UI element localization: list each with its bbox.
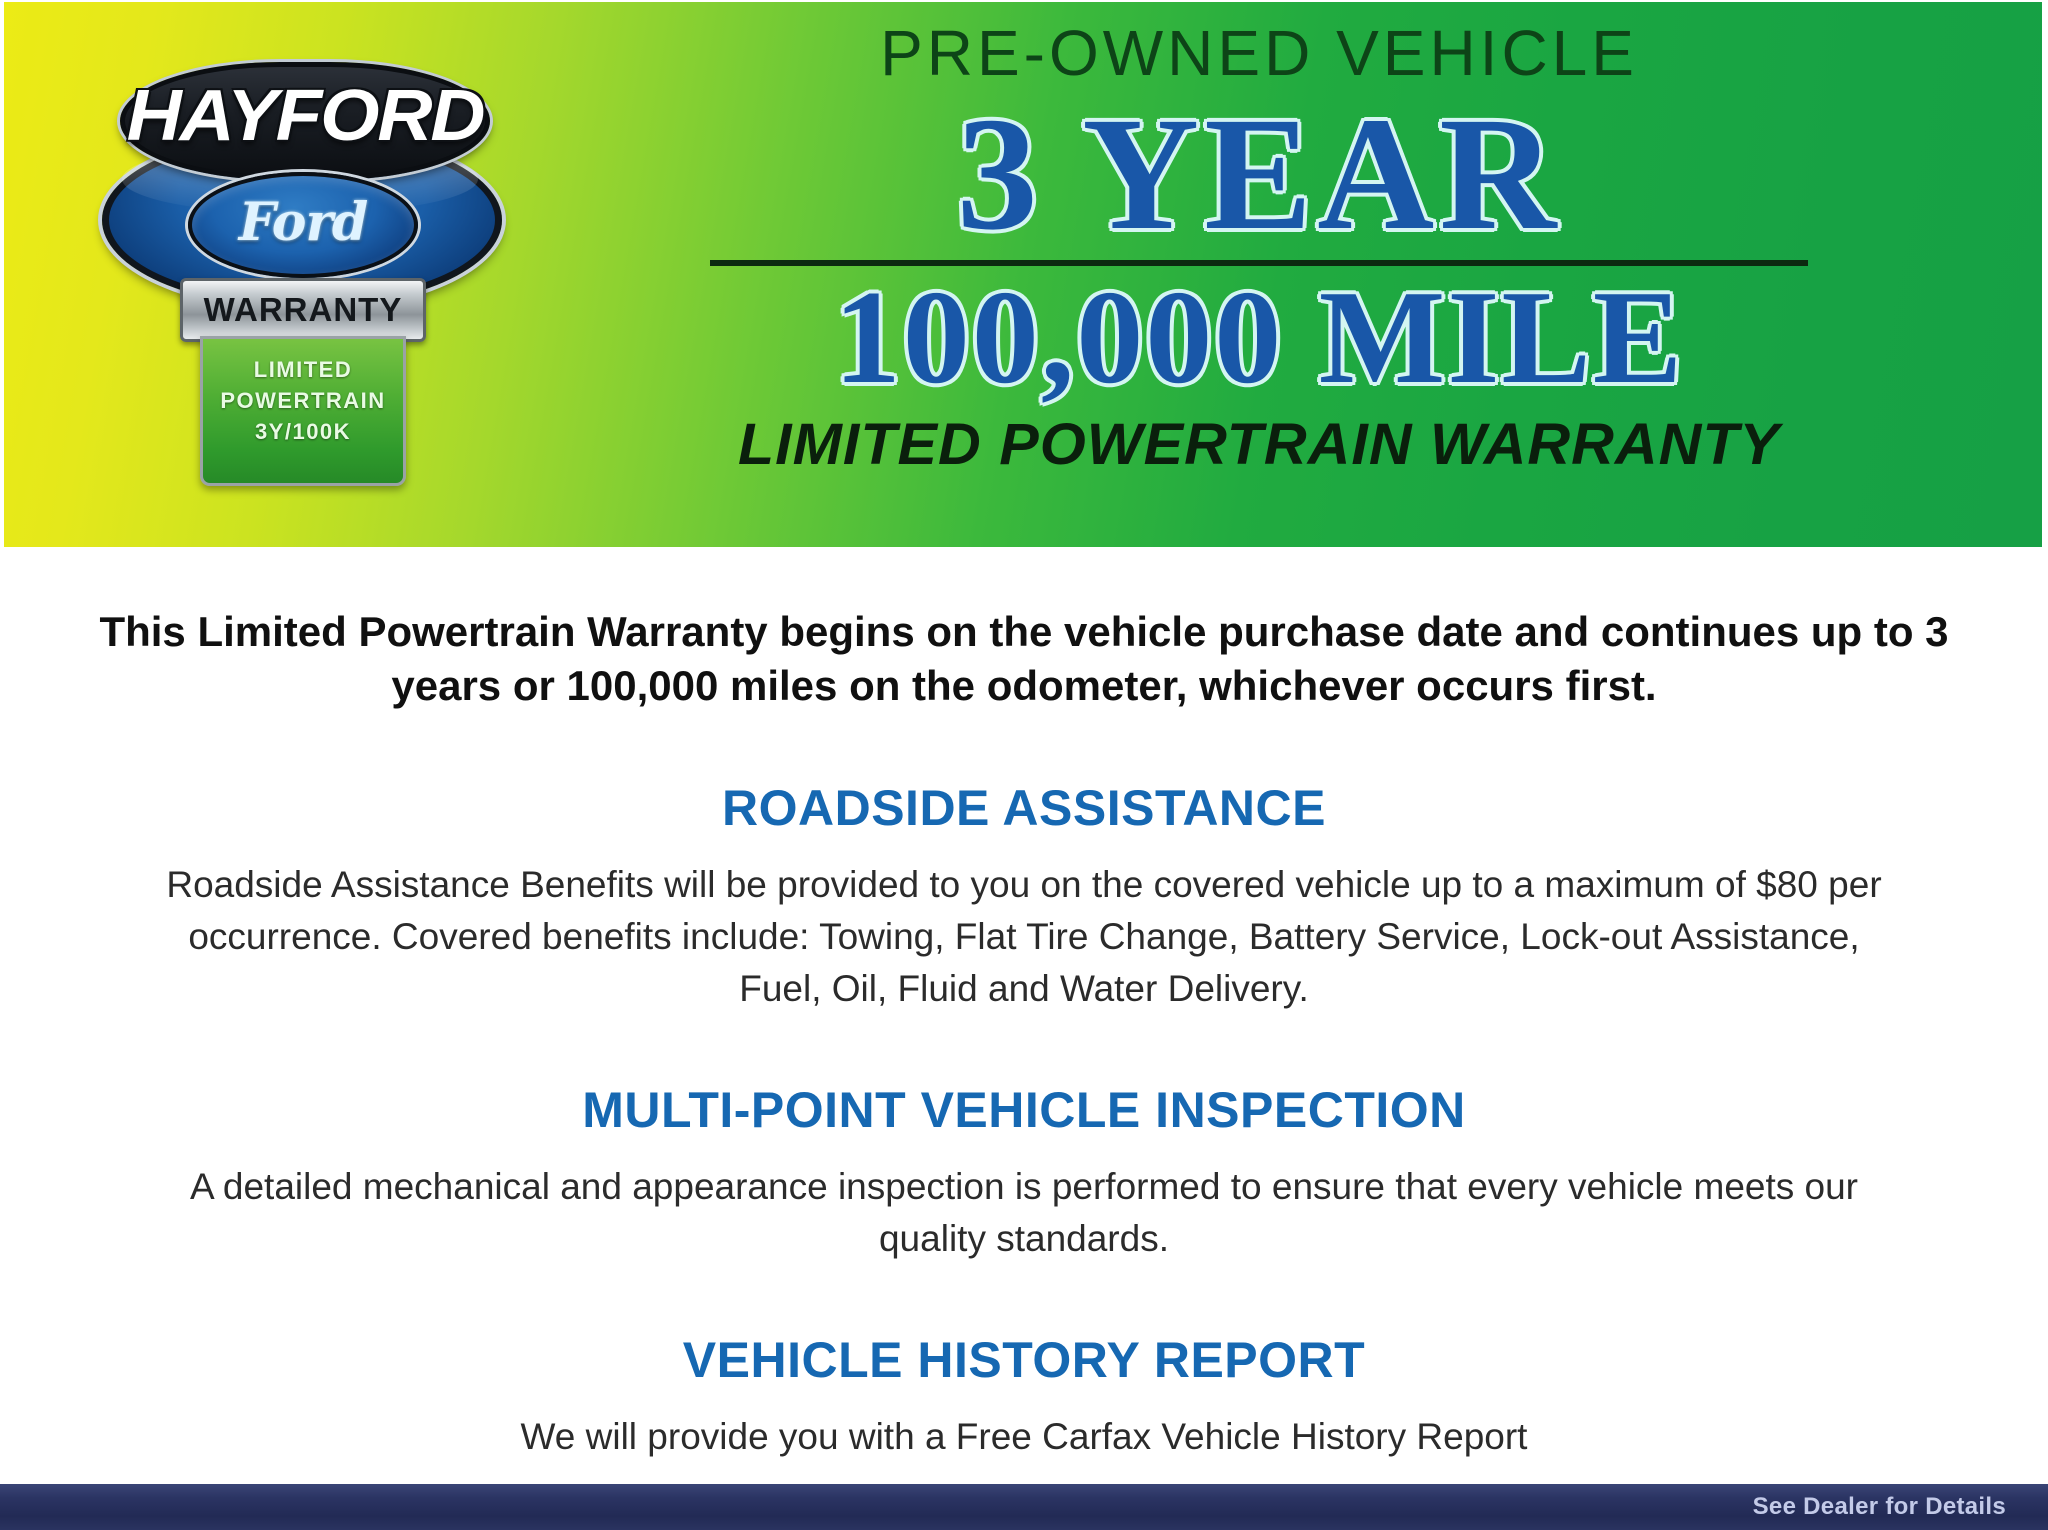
see-dealer-for-details-note: See Dealer for Details	[1753, 1493, 2006, 1521]
banner-miles-headline: 100,000 MILE	[704, 270, 1814, 404]
banner-subtitle: LIMITED POWERTRAIN WARRANTY	[693, 412, 1825, 478]
section-title-roadside-assistance: ROADSIDE ASSISTANCE	[0, 779, 2048, 837]
hayford-ford-warranty-logo: HAYFORD Ford WARRANTY LIMITED POWERTRAIN…	[96, 36, 516, 506]
banner-headline-block: PRE-OWNED VEHICLE 3 YEAR 100,000 MILE LI…	[704, 16, 1814, 478]
logo-plate-line-1: LIMITED	[200, 354, 406, 385]
section-body-multi-point-inspection: A detailed mechanical and appearance ins…	[144, 1161, 1904, 1265]
header-banner: HAYFORD Ford WARRANTY LIMITED POWERTRAIN…	[4, 2, 2042, 547]
logo-plate-line-2: POWERTRAIN	[200, 385, 406, 416]
ford-script-wordmark: Ford	[188, 192, 418, 254]
main-content: This Limited Powertrain Warranty begins …	[0, 560, 2048, 1463]
logo-plate-line-3: 3Y/100K	[200, 416, 406, 447]
section-multi-point-inspection: MULTI-POINT VEHICLE INSPECTION A detaile…	[0, 1081, 2048, 1265]
logo-warranty-label: WARRANTY	[180, 290, 426, 330]
warranty-intro-statement: This Limited Powertrain Warranty begins …	[74, 605, 1974, 713]
logo-plate-labels: LIMITED POWERTRAIN 3Y/100K	[200, 354, 406, 447]
section-body-roadside-assistance: Roadside Assistance Benefits will be pro…	[144, 859, 1904, 1015]
footer-bar: See Dealer for Details	[0, 1484, 2048, 1530]
section-vehicle-history-report: VEHICLE HISTORY REPORT We will provide y…	[0, 1331, 2048, 1463]
section-roadside-assistance: ROADSIDE ASSISTANCE Roadside Assistance …	[0, 779, 2048, 1015]
section-title-multi-point-inspection: MULTI-POINT VEHICLE INSPECTION	[0, 1081, 2048, 1139]
section-title-vehicle-history-report: VEHICLE HISTORY REPORT	[0, 1331, 2048, 1389]
banner-kicker: PRE-OWNED VEHICLE	[704, 16, 1814, 90]
logo-brand-name: HAYFORD	[109, 78, 501, 154]
section-body-vehicle-history-report: We will provide you with a Free Carfax V…	[144, 1411, 1904, 1463]
banner-years-headline: 3 YEAR	[704, 96, 1814, 254]
